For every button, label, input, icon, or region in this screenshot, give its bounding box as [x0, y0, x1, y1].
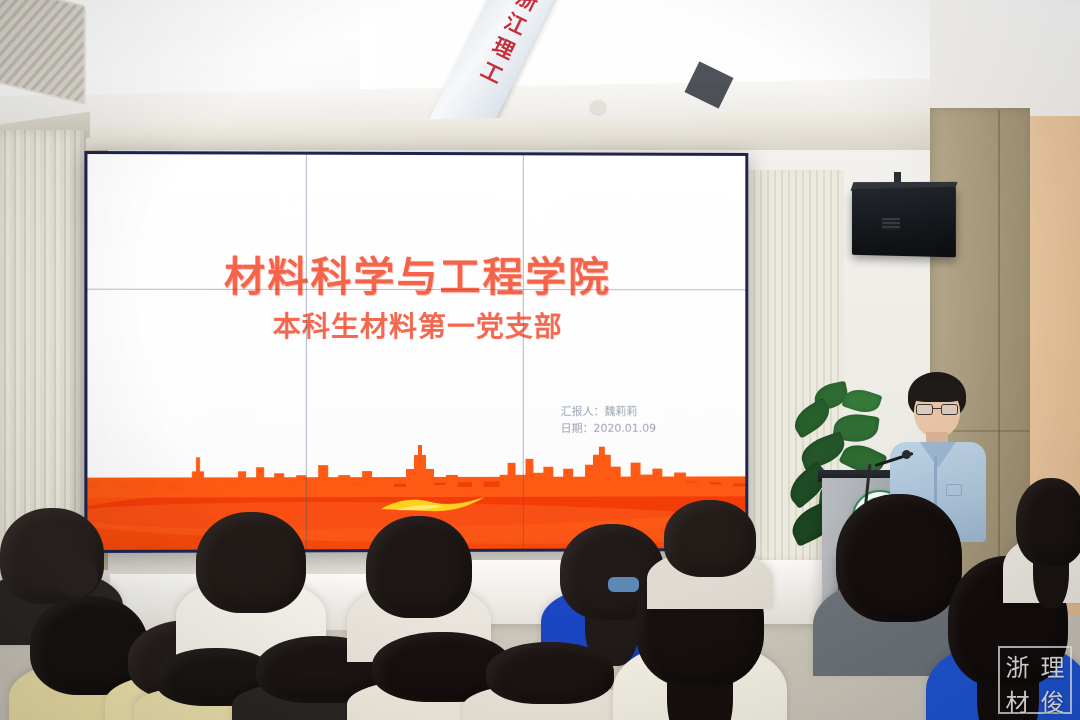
smoke-detector-icon [590, 100, 606, 114]
banner-char: 江 [501, 11, 529, 39]
microphone-icon [902, 450, 911, 459]
video-wall[interactable]: 材料科学与工程学院 本科生材料第一党支部 汇报人：魏莉莉 日期：2020.01.… [84, 151, 748, 553]
watermark-char: 浙 [1000, 648, 1035, 683]
wall-mounted-speaker [852, 187, 956, 258]
slide-presenter-line: 汇报人：魏莉莉 [561, 403, 656, 420]
audience-head [486, 642, 614, 704]
banner-char: 理 [489, 35, 517, 63]
audience-member [196, 512, 306, 638]
audience-member [366, 516, 472, 644]
slide-meta-block: 汇报人：魏莉莉 日期：2020.01.09 [561, 403, 656, 437]
audience-member [664, 500, 756, 596]
audience-head [664, 500, 756, 577]
video-wall-surface: 材料科学与工程学院 本科生材料第一党支部 汇报人：魏莉莉 日期：2020.01.… [87, 154, 745, 550]
audience-member [1016, 478, 1080, 588]
speaker-grille-icon [882, 218, 900, 230]
banner-char: 工 [477, 59, 505, 87]
watermark-char: 俊 [1035, 683, 1070, 718]
audience-member [836, 494, 962, 654]
audience-head [366, 516, 472, 618]
video-wall-seam-vertical [306, 155, 307, 550]
presentation-photo-scene: 浙 江 理 工 材料科学与工程学院 本科生材料第一党支部 汇报人：魏莉莉 日期：… [0, 0, 1080, 720]
hair-scrunchie-icon [608, 577, 639, 593]
plant-leaf [841, 385, 882, 417]
glasses-icon [916, 404, 958, 415]
audience-hair-bun [54, 556, 98, 597]
video-wall-seam-vertical [523, 155, 524, 548]
watermark-char: 理 [1035, 648, 1070, 683]
audience-head [1016, 478, 1080, 566]
slide-date-line: 日期：2020.01.09 [561, 420, 656, 437]
watermark-char: 材 [1000, 683, 1035, 718]
slide-subtitle: 本科生材料第一党支部 [87, 305, 745, 345]
dove-ribbon-icon [379, 489, 489, 515]
audience-member [486, 642, 614, 720]
slide-title: 材料科学与工程学院 [87, 242, 745, 303]
audience-head [196, 512, 306, 613]
audience-head [836, 494, 962, 622]
presenter-hair-fringe [910, 380, 964, 402]
presentation-slide: 材料科学与工程学院 本科生材料第一党支部 汇报人：魏莉莉 日期：2020.01.… [87, 154, 745, 550]
right-wall-seam [998, 110, 1000, 590]
watermark: 浙 理 材 俊 [998, 646, 1072, 714]
plant-leaf [797, 431, 849, 471]
